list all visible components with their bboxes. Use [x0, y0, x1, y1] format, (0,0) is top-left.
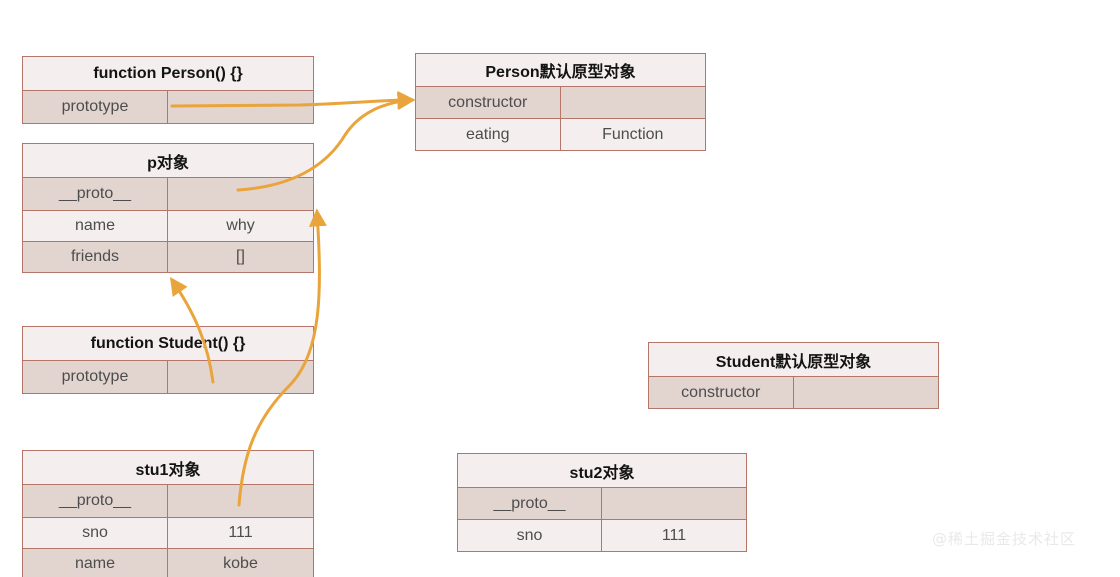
cell-key: eating [416, 119, 561, 150]
table-row: prototype [23, 90, 313, 123]
cell-value [168, 91, 313, 123]
table-row: prototype [23, 360, 313, 393]
box-student-function: function Student() {} prototype [22, 326, 314, 394]
table-row: __proto__ [458, 487, 746, 519]
table-row: sno 111 [23, 517, 313, 548]
cell-value [168, 485, 313, 517]
box-student-prototype-header: Student默认原型对象 [649, 343, 938, 376]
box-student-function-header: function Student() {} [23, 327, 313, 360]
box-p-object-title: p对象 [23, 149, 313, 173]
cell-key: prototype [23, 91, 168, 123]
table-row: sno 111 [458, 519, 746, 551]
watermark: @稀土掘金技术社区 [932, 528, 1076, 549]
box-student-prototype: Student默认原型对象 constructor [648, 342, 939, 409]
box-stu2-object-title: stu2对象 [458, 459, 746, 483]
box-person-function-title: function Person() {} [23, 65, 313, 83]
diagram-canvas: function Person() {} prototype p对象 __pro… [0, 0, 1120, 577]
cell-value: 111 [602, 520, 746, 551]
cell-key: name [23, 549, 168, 577]
cell-key: prototype [23, 361, 168, 393]
box-stu1-object: stu1对象 __proto__ sno 111 name kobe [22, 450, 314, 577]
table-row: constructor [649, 376, 938, 408]
cell-key: friends [23, 242, 168, 272]
box-person-function-header: function Person() {} [23, 57, 313, 90]
table-row: constructor [416, 86, 705, 118]
box-student-function-title: function Student() {} [23, 335, 313, 353]
table-row: name kobe [23, 548, 313, 577]
cell-key: constructor [416, 87, 561, 118]
box-person-prototype: Person默认原型对象 constructor eating Function [415, 53, 706, 151]
box-p-object: p对象 __proto__ name why friends [] [22, 143, 314, 273]
cell-value: [] [168, 242, 313, 272]
box-stu1-object-header: stu1对象 [23, 451, 313, 484]
cell-value: why [168, 211, 313, 241]
table-row: __proto__ [23, 177, 313, 210]
cell-value [168, 361, 313, 393]
cell-key: __proto__ [458, 488, 602, 519]
cell-key: __proto__ [23, 485, 168, 517]
table-row: __proto__ [23, 484, 313, 517]
cell-value [602, 488, 746, 519]
cell-key: name [23, 211, 168, 241]
cell-key: sno [458, 520, 602, 551]
box-stu2-object: stu2对象 __proto__ sno 111 [457, 453, 747, 552]
box-person-prototype-title: Person默认原型对象 [416, 58, 705, 82]
cell-value: Function [561, 119, 706, 150]
cell-value [168, 178, 313, 210]
cell-value: 111 [168, 518, 313, 548]
cell-value: kobe [168, 549, 313, 577]
box-person-function: function Person() {} prototype [22, 56, 314, 124]
box-student-prototype-title: Student默认原型对象 [649, 348, 938, 372]
table-row: name why [23, 210, 313, 241]
box-p-object-header: p对象 [23, 144, 313, 177]
table-row: friends [] [23, 241, 313, 272]
cell-value [794, 377, 939, 408]
box-stu2-object-header: stu2对象 [458, 454, 746, 487]
box-stu1-object-title: stu1对象 [23, 456, 313, 480]
cell-key: __proto__ [23, 178, 168, 210]
cell-key: sno [23, 518, 168, 548]
cell-value [561, 87, 706, 118]
table-row: eating Function [416, 118, 705, 150]
box-person-prototype-header: Person默认原型对象 [416, 54, 705, 86]
cell-key: constructor [649, 377, 794, 408]
